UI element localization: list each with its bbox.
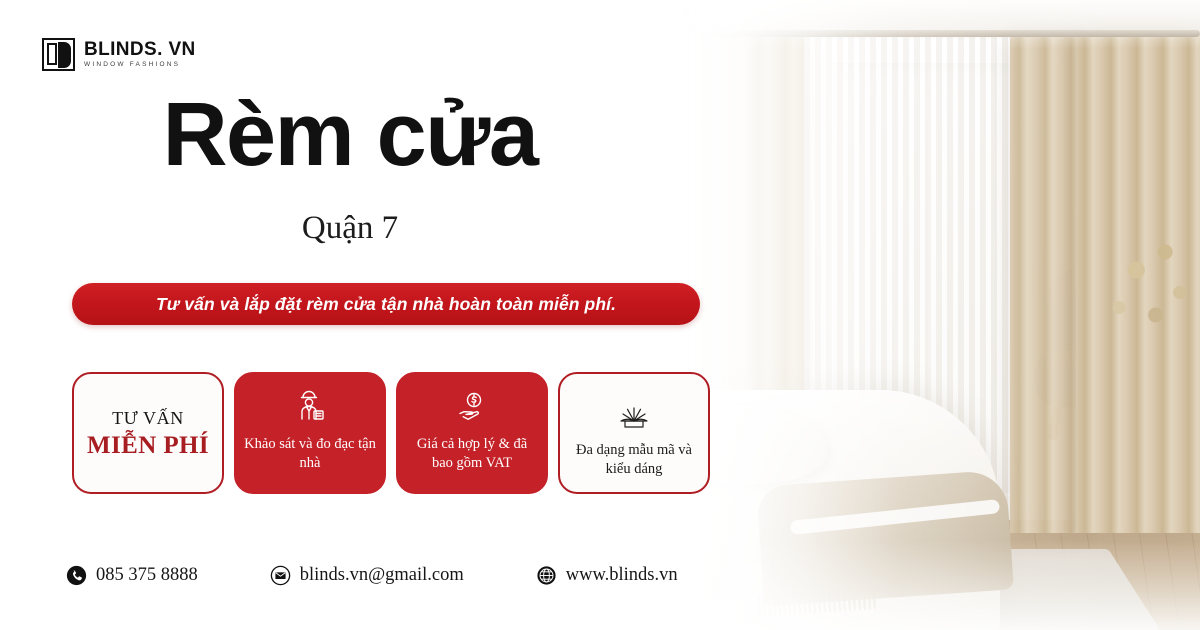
contact-bar: 085 375 8888 blinds.vn@gmail.com (66, 565, 678, 586)
page-title: Rèm cửa (0, 88, 700, 183)
contact-website-label: www.blinds.vn (566, 565, 678, 586)
brand-name: BLINDS. VN (84, 40, 196, 59)
content-column: BLINDS. VN WINDOW FASHIONS Rèm cửa Quận … (0, 0, 740, 630)
promotional-banner: BLINDS. VN WINDOW FASHIONS Rèm cửa Quận … (0, 0, 1200, 630)
globe-icon (536, 565, 557, 586)
feature-card-text: Khảo sát và đo đạc tận nhà (244, 435, 376, 472)
photo-bottom-fade (680, 540, 1200, 630)
feature-card-home-survey[interactable]: Khảo sát và đo đạc tận nhà (234, 372, 386, 494)
technician-icon (290, 386, 330, 430)
feature-card-free-consult[interactable]: TƯ VẤN MIỄN PHÍ (72, 372, 224, 494)
page-subtitle: Quận 7 (0, 210, 700, 247)
phone-icon (66, 565, 87, 586)
contact-website[interactable]: www.blinds.vn (536, 565, 678, 586)
feature-card-text: Giá cả hợp lý & đã bao gồm VAT (406, 435, 538, 472)
contact-phone[interactable]: 085 375 8888 (66, 565, 198, 586)
feature-card-fair-price[interactable]: Giá cả hợp lý & đã bao gồm VAT (396, 372, 548, 494)
feature-card-line1: TƯ VẤN (112, 408, 184, 429)
feature-card-text: Đa dạng mẫu mã và kiểu dáng (568, 441, 700, 478)
blinds-b-mark-icon (42, 38, 75, 71)
contact-email-label: blinds.vn@gmail.com (300, 565, 464, 586)
feature-card-line2: MIỄN PHÍ (87, 432, 209, 460)
contact-phone-label: 085 375 8888 (96, 565, 198, 586)
bedroom-photo (680, 0, 1200, 630)
hand-holding-coin-icon (452, 386, 492, 430)
photo-top-fade (680, 0, 1200, 40)
brand-tagline: WINDOW FASHIONS (84, 62, 196, 69)
feature-card-list: TƯ VẤN MIỄN PHÍ (72, 372, 710, 494)
photo-left-fade (680, 0, 1200, 630)
promo-banner-pill: Tư vấn và lắp đặt rèm cửa tận nhà hoàn t… (72, 283, 700, 325)
promo-banner-text: Tư vấn và lắp đặt rèm cửa tận nhà hoàn t… (156, 294, 616, 315)
feature-card-variety[interactable]: Đa dạng mẫu mã và kiểu dáng (558, 372, 710, 494)
photo-scene (680, 0, 1200, 630)
logo-text: BLINDS. VN WINDOW FASHIONS (84, 40, 196, 69)
brand-logo[interactable]: BLINDS. VN WINDOW FASHIONS (42, 38, 196, 71)
contact-email[interactable]: blinds.vn@gmail.com (270, 565, 464, 586)
fabric-swatch-fan-icon (614, 392, 654, 436)
email-icon (270, 565, 291, 586)
